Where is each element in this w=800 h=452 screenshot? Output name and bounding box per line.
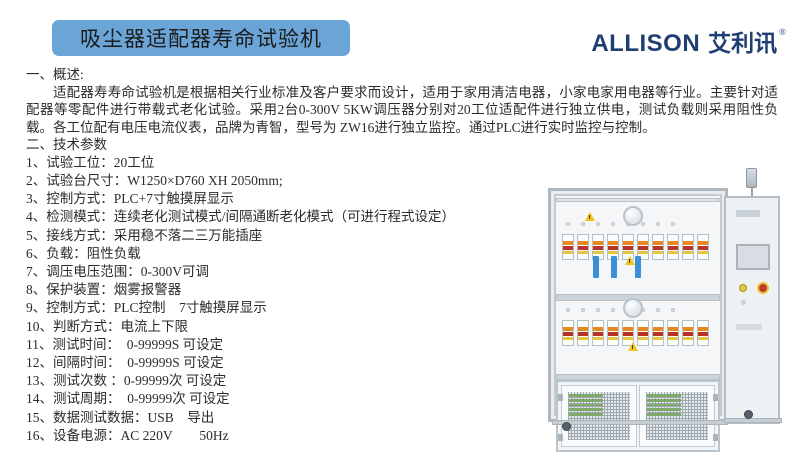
indicator-dot-row-upper <box>566 222 675 226</box>
registered-trademark-icon: ® <box>779 28 786 37</box>
socket-module[interactable] <box>562 320 574 346</box>
machine-illustration <box>548 172 792 444</box>
list-item: 2、试验台尺寸：W1250×D760 XH 2050mm; <box>26 172 456 190</box>
list-item: 6、负载：阻性负载 <box>26 245 456 263</box>
overview-paragraph: 适配器寿寿命试验机是根据相关行业标准及客户要求而设计，适用于家用清洁电器，小家电… <box>26 84 778 137</box>
list-item: 9、控制方式：PLC控制 7寸触摸屏显示 <box>26 299 456 317</box>
list-item: 5、接线方式：采用稳不落二三万能插座 <box>26 227 456 245</box>
door-hinge <box>713 434 718 441</box>
overview-heading: 一、概述: <box>26 66 778 84</box>
logo-cjk-text: 艾利讯 <box>708 32 777 55</box>
reset-button[interactable] <box>741 300 746 305</box>
warning-triangle-icon <box>625 256 635 265</box>
door-hinge <box>558 434 563 441</box>
spec-list: 1、试验工位：20工位 2、试验台尺寸：W1250×D760 XH 2050mm… <box>26 154 456 445</box>
blue-connector <box>635 256 641 278</box>
indicator-dot <box>596 308 600 312</box>
list-item: 11、测试时间： 0-99999S 可设定 <box>26 336 456 354</box>
indicator-dot <box>656 308 660 312</box>
voltage-regulator-knob-upper[interactable] <box>623 206 643 226</box>
brand-plate <box>736 210 760 217</box>
lower-cabinet <box>556 380 720 452</box>
indicator-dot <box>671 308 675 312</box>
cabinet-door-right[interactable] <box>639 385 715 447</box>
control-panel-column <box>724 196 780 424</box>
door-hinge <box>713 394 718 401</box>
specs-heading: 二、技术参数 <box>26 136 778 154</box>
control-label-plate <box>736 324 762 330</box>
socket-module[interactable] <box>667 234 679 260</box>
indicator-dot <box>566 308 570 312</box>
indicator-dot <box>611 308 615 312</box>
socket-module[interactable] <box>682 320 694 346</box>
indicator-dot <box>596 222 600 226</box>
power-indicator-lamp <box>739 284 747 292</box>
caster-wheel <box>744 410 753 419</box>
door-hinge <box>558 394 563 401</box>
list-item: 3、控制方式：PLC+7寸触摸屏显示 <box>26 190 456 208</box>
emergency-stop-button[interactable] <box>757 282 769 294</box>
socket-module[interactable] <box>637 320 649 346</box>
list-item: 12、间隔时间： 0-99999S 可设定 <box>26 354 456 372</box>
socket-module[interactable] <box>667 320 679 346</box>
caster-wheel <box>562 422 571 431</box>
list-item: 14、测试周期： 0-99999次 可设定 <box>26 390 456 408</box>
indicator-dot <box>671 222 675 226</box>
warning-triangle-icon <box>585 212 595 221</box>
list-item: 10、判断方式：电流上下限 <box>26 318 456 336</box>
tower-lamp-icon <box>746 168 757 188</box>
socket-module[interactable] <box>592 320 604 346</box>
indicator-dot <box>611 222 615 226</box>
machine-photo <box>548 172 792 444</box>
voltage-regulator-knob-lower[interactable] <box>623 298 643 318</box>
socket-module[interactable] <box>562 234 574 260</box>
socket-module[interactable] <box>682 234 694 260</box>
list-item: 1、试验工位：20工位 <box>26 154 456 172</box>
list-item: 16、设备电源：AC 220V 50Hz <box>26 427 456 445</box>
resistor-bank <box>569 394 603 416</box>
list-item: 8、保护装置：烟雾报警器 <box>26 281 456 299</box>
indicator-dot-row-lower <box>566 308 675 312</box>
list-item: 7、调压电压范围：0-300V可调 <box>26 263 456 281</box>
indicator-dot <box>581 308 585 312</box>
socket-module[interactable] <box>607 320 619 346</box>
list-item: 13、测试次数 ：0-99999次 可设定 <box>26 372 456 390</box>
base-rail-front <box>552 420 728 425</box>
shelf-top <box>556 198 720 202</box>
logo-latin-text: ALLISON <box>591 32 700 56</box>
base-rail-side <box>724 418 782 423</box>
indicator-dot <box>656 222 660 226</box>
cabinet-door-left[interactable] <box>561 385 637 447</box>
list-item: 15、数据测试数据：USB 导出 <box>26 409 456 427</box>
blue-connector <box>593 256 599 278</box>
socket-module[interactable] <box>652 234 664 260</box>
indicator-dot <box>641 222 645 226</box>
blue-connector <box>611 256 617 278</box>
indicator-dot <box>581 222 585 226</box>
warning-triangle-icon <box>628 342 638 351</box>
socket-module[interactable] <box>577 234 589 260</box>
slide-root: 吸尘器适配器寿命试验机 ALLISON 艾利讯 ® 一、概述: 适配器寿寿命试验… <box>0 0 800 450</box>
socket-module[interactable] <box>652 320 664 346</box>
resistor-bank <box>647 394 681 416</box>
indicator-dot <box>566 222 570 226</box>
socket-module[interactable] <box>697 234 709 260</box>
socket-module[interactable] <box>577 320 589 346</box>
page-title: 吸尘器适配器寿命试验机 <box>80 23 322 53</box>
socket-module[interactable] <box>697 320 709 346</box>
brand-logo: ALLISON 艾利讯 ® <box>591 32 786 56</box>
page-title-banner: 吸尘器适配器寿命试验机 <box>52 20 350 56</box>
hmi-touchscreen[interactable] <box>736 244 770 270</box>
list-item: 4、检测模式：连续老化测试模式/间隔通断老化模式（可进行程式设定） <box>26 208 456 226</box>
